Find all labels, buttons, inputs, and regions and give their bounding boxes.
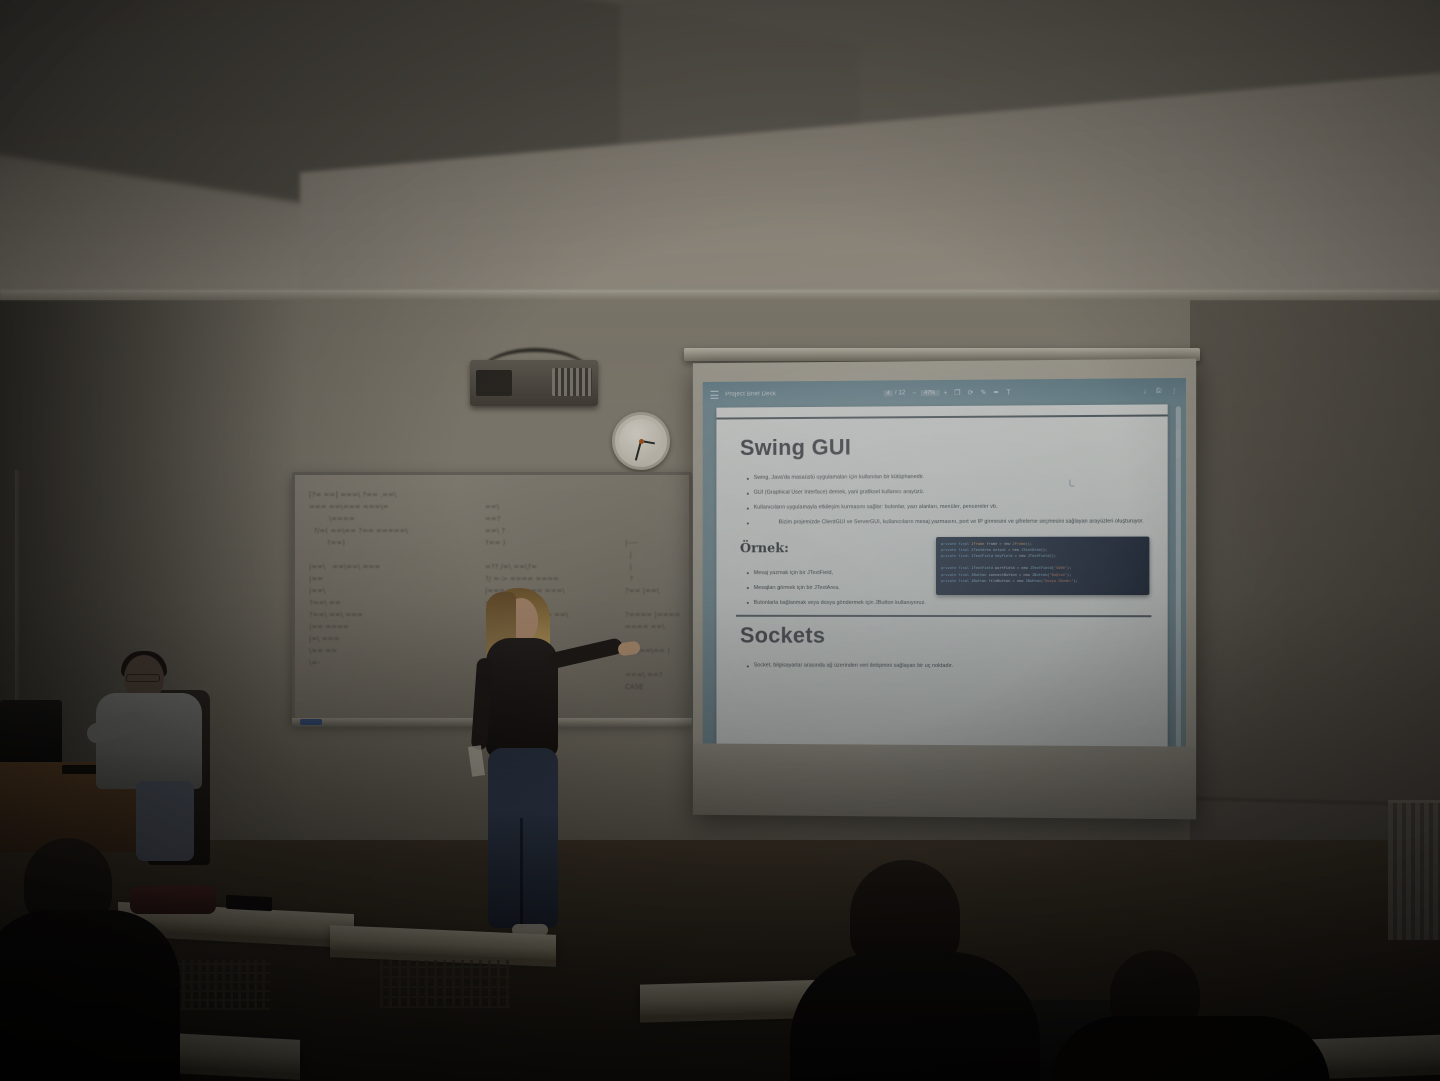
document-title: Project Brief Deck bbox=[725, 391, 776, 397]
student-body bbox=[1050, 1016, 1330, 1081]
instructor-body bbox=[96, 693, 202, 789]
slide-heading-swing-gui: Swing GUI bbox=[740, 433, 1151, 461]
list-item: Swing, Java'da masaüstü uygulamaları içi… bbox=[746, 471, 1152, 484]
desk-basket bbox=[380, 960, 510, 1008]
whiteboard-notes-left: [?= ==] ===\ ?== .==\ === ==\=== ===\= \… bbox=[309, 489, 408, 669]
slide-heading-sockets: Sockets bbox=[740, 623, 1151, 650]
desktop-monitor bbox=[0, 700, 62, 770]
page-separator: / bbox=[895, 390, 897, 396]
clock-center-pin bbox=[639, 439, 644, 444]
toolbar-center-controls: 4 / 12 − 47% + ❐ ⟳ ✎ ✒ T bbox=[884, 388, 1011, 397]
student-foreground-left bbox=[0, 838, 170, 1081]
wall-clock bbox=[612, 412, 670, 470]
presenter-paper bbox=[468, 745, 485, 777]
vertical-scrollbar[interactable] bbox=[1176, 406, 1181, 747]
classroom-scene: [?= ==] ===\ ?== .==\ === ==\=== ===\= \… bbox=[0, 0, 1440, 1081]
highlight-icon[interactable]: ✎ bbox=[980, 389, 986, 397]
fit-page-icon[interactable]: ❐ bbox=[954, 389, 960, 397]
projection-screen: Project Brief Deck 4 / 12 − 47% + ❐ ⟳ ✎ bbox=[693, 359, 1196, 820]
ceiling bbox=[0, 0, 1440, 300]
draw-icon[interactable]: ✒ bbox=[993, 389, 999, 397]
more-options-icon[interactable]: ⋮ bbox=[1171, 387, 1178, 395]
presenter-legs bbox=[488, 748, 558, 928]
scrollbar-thumb[interactable] bbox=[1176, 428, 1181, 458]
list-item: Kullanıcıların uygulamayla etkileşim kur… bbox=[746, 501, 1152, 514]
zoom-out-button[interactable]: − bbox=[912, 390, 916, 397]
slide-mid-rule bbox=[736, 615, 1151, 617]
presenter-arm-pointing bbox=[546, 637, 624, 670]
page-number-input[interactable]: 4 bbox=[884, 390, 893, 396]
list-item: GUI (Graphical User Interface) demek, ya… bbox=[746, 486, 1152, 499]
slide-bullets-sockets: Socket, bilgisayarlar arasında ağ üzerin… bbox=[746, 660, 1152, 673]
student-foreground-center bbox=[790, 860, 1030, 1081]
screen-lower-blank bbox=[693, 743, 1196, 819]
code-snippet-image: private final JFrame frame = new JFrame(… bbox=[936, 536, 1149, 594]
pdf-viewer-toolbar: Project Brief Deck 4 / 12 − 47% + ❐ ⟳ ✎ bbox=[703, 378, 1186, 408]
zoom-level-value[interactable]: 47% bbox=[920, 390, 939, 396]
slide-section-sockets: Sockets Socket, bilgisayarlar arasında a… bbox=[736, 623, 1151, 673]
presenter-leg-split bbox=[520, 818, 523, 928]
download-icon[interactable]: ↓ bbox=[1143, 388, 1147, 395]
ceiling-projector bbox=[470, 360, 598, 406]
projector-lens-icon bbox=[476, 370, 512, 396]
glasses-icon bbox=[126, 674, 160, 682]
phone bbox=[226, 895, 272, 911]
pdf-page-area: Swing GUI Swing, Java'da masaüstü uygula… bbox=[703, 404, 1186, 747]
page-navigation[interactable]: 4 / 12 bbox=[884, 390, 905, 396]
student-body bbox=[790, 952, 1040, 1081]
text-annotation-icon[interactable]: T bbox=[1006, 389, 1010, 396]
presenter-torso bbox=[486, 638, 558, 758]
list-item: Butonlarla bağlanmak veya dosya gönderme… bbox=[746, 597, 1152, 609]
slide-section-ornek: Örnek: Mesaj yazmak için bir JTextField,… bbox=[736, 540, 1151, 609]
rotate-icon[interactable]: ⟳ bbox=[968, 389, 974, 397]
wall-cornice bbox=[0, 290, 1440, 300]
slide-bullets-swing: Swing, Java'da masaüstü uygulamaları içi… bbox=[746, 471, 1152, 529]
student-foreground-right bbox=[1080, 950, 1300, 1081]
toolbar-right-controls: ↓ ⎙ ⋮ bbox=[1143, 387, 1178, 395]
slide-top-rule bbox=[716, 414, 1167, 419]
mouse-cursor-icon bbox=[1069, 479, 1074, 486]
page-total: 12 bbox=[899, 390, 906, 396]
student-body bbox=[0, 910, 180, 1081]
hamburger-menu-icon[interactable] bbox=[711, 391, 719, 399]
whiteboard-marker bbox=[300, 719, 322, 725]
print-icon[interactable]: ⎙ bbox=[1156, 387, 1162, 395]
presenter-hand bbox=[617, 641, 641, 657]
pdf-page: Swing GUI Swing, Java'da masaüstü uygula… bbox=[716, 404, 1167, 747]
presenter bbox=[452, 588, 642, 956]
zoom-controls: − 47% + bbox=[912, 389, 947, 396]
pdf-viewer-window[interactable]: Project Brief Deck 4 / 12 − 47% + ❐ ⟳ ✎ bbox=[703, 378, 1186, 748]
list-item: Socket, bilgisayarlar arasında ağ üzerin… bbox=[746, 660, 1152, 673]
projector-vent bbox=[552, 368, 592, 396]
zoom-in-button[interactable]: + bbox=[943, 389, 947, 396]
list-item: Bizim projemizde ClientGUI ve ServerGUI,… bbox=[746, 516, 1152, 529]
radiator bbox=[1388, 800, 1440, 940]
